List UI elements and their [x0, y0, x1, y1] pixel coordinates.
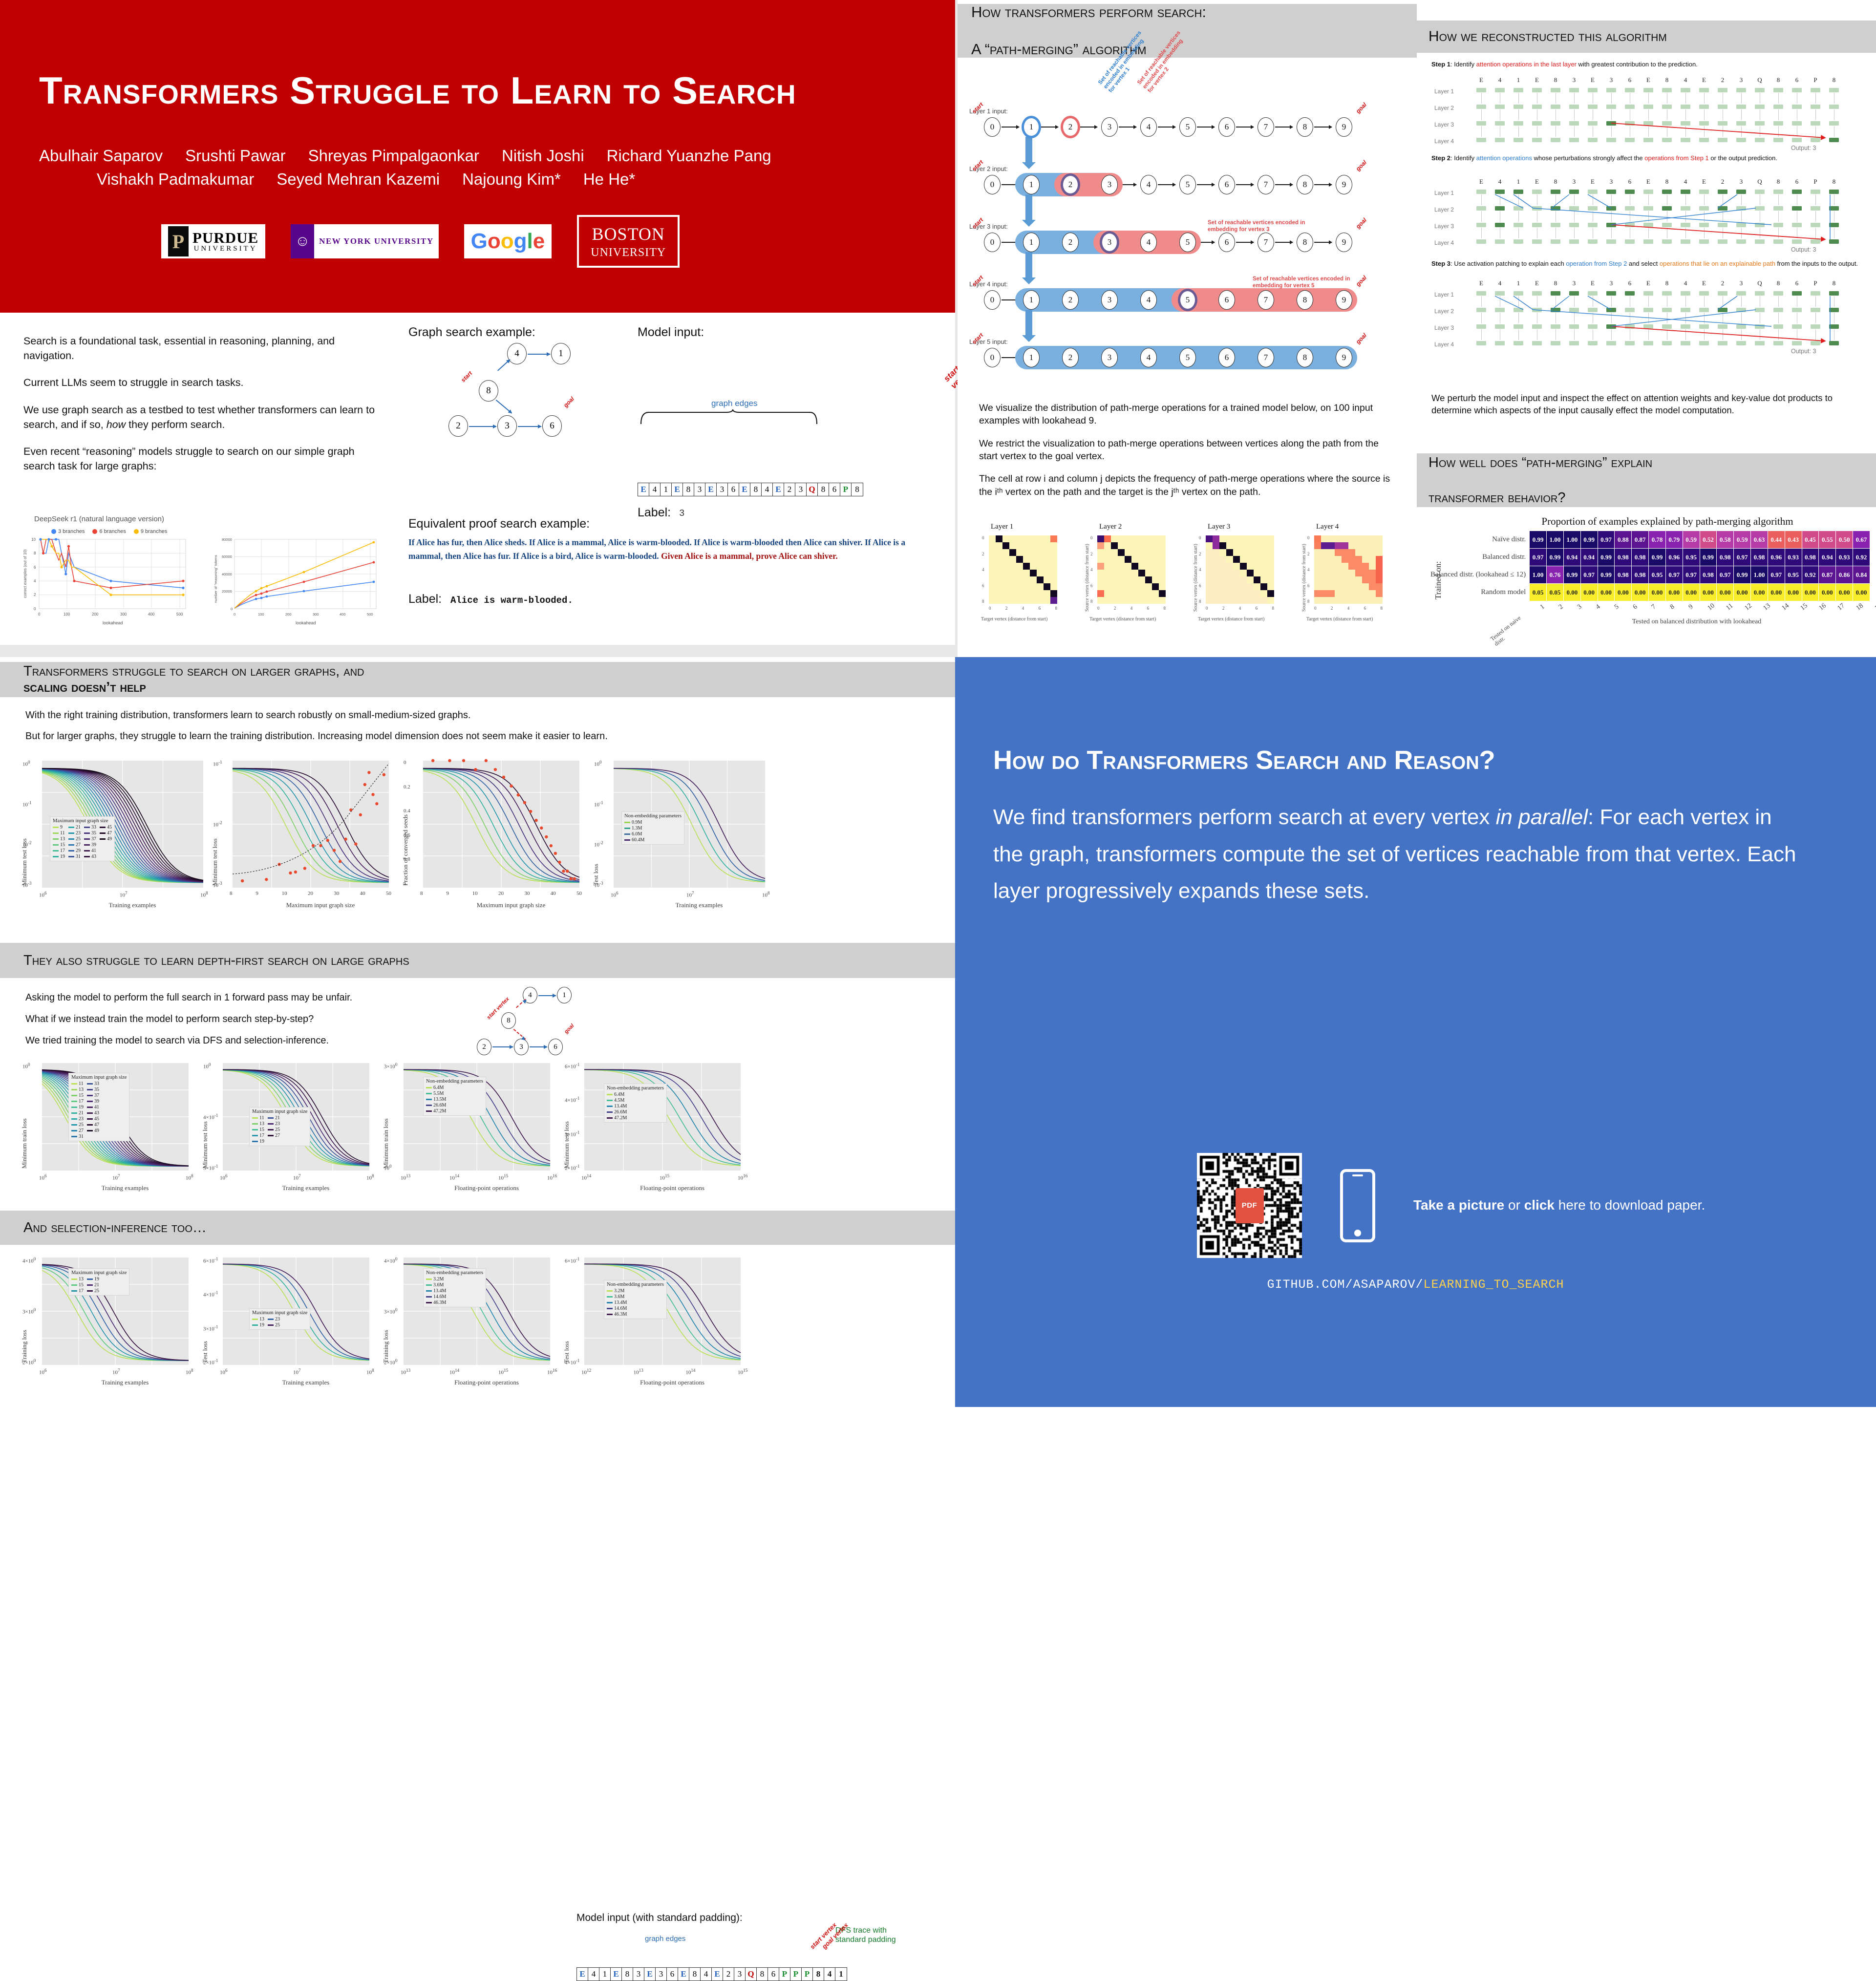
heatmap-cell: 0.00 [1768, 584, 1785, 601]
heatmap-cell [1152, 563, 1159, 570]
reconstruction-connector [1611, 194, 1612, 205]
pm-vertex-6: 6 [1218, 233, 1235, 252]
legend-item: 3.6M [426, 1282, 446, 1288]
plot-dfs-flops-train: Minimum train lossFloating-point operati… [376, 1060, 557, 1198]
heatmap-cell [996, 549, 1002, 556]
legend-swatch [53, 856, 59, 857]
legend-swatch [84, 856, 90, 857]
heatmap-cell: 0.00 [1836, 584, 1853, 601]
reconstruction-connector [1667, 109, 1667, 120]
svg-text:10: 10 [31, 537, 36, 542]
reconstruction-token-header: Q [1755, 279, 1765, 287]
deepseek-left-xlabel: lookahead [103, 620, 123, 625]
reconstruction-activation-cell [1643, 324, 1653, 329]
heatmap-cell [1219, 576, 1226, 583]
heatmap-cell [1131, 549, 1138, 556]
reconstruction-activation-cell [1662, 190, 1672, 194]
reconstruction-activation-cell [1532, 308, 1542, 312]
heatmap-cell: 0.00 [1785, 584, 1802, 601]
reconstruction-connector [1760, 296, 1760, 307]
heatmap-cell: 0.99 [1649, 549, 1666, 566]
boston-university-logo: BOSTON UNIVERSITY [577, 215, 680, 268]
heatmap-cell: 0.98 [1751, 549, 1768, 566]
legend-swatch [53, 844, 59, 846]
plot-scale-minloss-vs-graphsize: Minimum test lossMaximum input graph siz… [205, 758, 396, 915]
heatmap-cell [1131, 535, 1138, 542]
dfs-goal-label: goal [563, 1023, 575, 1035]
reconstruction-token-header: 1 [1514, 279, 1523, 287]
legend-swatch [87, 1278, 93, 1280]
heatmap-cell [996, 570, 1002, 576]
axis-tick-y: 10-2 [594, 840, 603, 848]
reconstruction-layer-grid: E41E83E36E84E23Q86P8Layer 1Layer 2Layer … [1429, 76, 1859, 154]
legend-item: 1.3M [624, 826, 644, 831]
legend-item: 6.4M [607, 1092, 627, 1097]
reconstruction-activation-cell [1495, 105, 1505, 109]
reconstruction-connector [1500, 329, 1500, 340]
legend-swatch [87, 1290, 93, 1292]
reconstruction-activation-cell [1699, 88, 1709, 92]
legend-swatch [87, 1101, 93, 1102]
axis-tick-x: 1014 [449, 1173, 459, 1181]
page-title: Transformers Struggle to Learn to Search [39, 68, 918, 113]
reconstruction-activation-cell [1532, 223, 1542, 227]
reconstruction-output-label: Output: 3 [1791, 348, 1816, 355]
heatmap-cell: 0.00 [1700, 584, 1717, 601]
legend-swatch [68, 844, 74, 846]
heatmap-cell [1138, 576, 1145, 583]
author-name: Shreyas Pimpalgaonkar [308, 147, 479, 165]
reconstruction-activation-cell [1625, 88, 1635, 92]
heatmap-cell [1206, 597, 1213, 604]
heatmap-cell [1152, 542, 1159, 549]
heatmap-cell [1016, 590, 1023, 597]
legend-label: 47.2M [433, 1108, 446, 1114]
reconstruction-connector [1518, 228, 1519, 238]
purdue-logo-line1: PURDUE [192, 230, 258, 245]
reconstruction-token-header: E [1588, 76, 1598, 84]
reconstruction-connector [1834, 211, 1834, 222]
purdue-logo-line2: UNIVERSITY [192, 245, 258, 253]
qr-code[interactable]: PDF [1197, 1153, 1302, 1258]
pm-vertex-2: 2 [1062, 233, 1079, 252]
heatmap-cell: 0.00 [1615, 584, 1632, 601]
heatmap-cell [1104, 597, 1111, 604]
heatmap-cell [1002, 583, 1009, 590]
layer-heatmap-ylabel: Source vertex (distance from start) [1085, 544, 1090, 612]
heatmap-cell [1314, 570, 1321, 576]
legend-swatch [87, 1083, 93, 1085]
heatmap-cell: 0.78 [1649, 531, 1666, 549]
proof-example-title: Equivalent proof search example: [408, 517, 590, 531]
legend-swatch [268, 1123, 274, 1125]
heatmap-cell [1226, 549, 1233, 556]
heatmap-cell [1321, 570, 1328, 576]
axis-tick-y: 6×10-1 [565, 1257, 579, 1264]
heatmap-cell [1131, 576, 1138, 583]
reconstruction-connector [1834, 329, 1834, 340]
heatmap-cell: 0.94 [1819, 549, 1836, 566]
input-token: P [790, 1968, 802, 1981]
reconstruction-connector [1760, 228, 1760, 238]
heatmap-cell [1159, 570, 1166, 576]
heatmap-cell: 0.43 [1785, 531, 1802, 549]
reconstruction-activation-cell [1625, 324, 1635, 329]
legend-swatch [68, 827, 74, 828]
legend-item: 23 [68, 831, 81, 836]
pm-edge [1236, 184, 1254, 185]
reconstruction-activation-cell [1606, 291, 1616, 296]
reconstruction-connector [1723, 228, 1723, 238]
purdue-logo: P PURDUE UNIVERSITY [161, 224, 265, 258]
axis-tick: 4 [1090, 567, 1093, 572]
reconstruction-connector [1574, 211, 1575, 222]
heatmap-cell [1159, 583, 1166, 590]
reconstruction-connector [1704, 109, 1705, 120]
reconstruction-connector [1685, 93, 1686, 104]
heatmap-cell [1328, 535, 1335, 542]
layer-heatmap-ylabel: Source vertex (distance from start) [1193, 544, 1198, 612]
reconstruction-activation-cell [1811, 88, 1820, 92]
axis-tick: 4 [1347, 606, 1350, 611]
legend-swatch [607, 1111, 613, 1113]
axis-tick-x: 1013 [401, 1368, 410, 1376]
heatmap-cell [1097, 583, 1104, 590]
axis-tick-x: 1016 [547, 1173, 557, 1181]
reconstruction-layer-label: Layer 1 [1434, 190, 1454, 196]
axis-tick-x: 40 [360, 891, 365, 896]
heatmap-cell [1131, 542, 1138, 549]
reconstruction-connector [1704, 211, 1705, 222]
heatmap-cell [1247, 576, 1254, 583]
legend-label: 17 [79, 1288, 84, 1294]
pm-edge [1236, 127, 1254, 128]
reconstruction-activation-cell [1718, 138, 1727, 142]
reconstruction-connector [1834, 296, 1834, 307]
reconstruction-connector [1593, 211, 1593, 222]
heatmap-cell [1016, 583, 1023, 590]
heatmap-cell [1321, 549, 1328, 556]
heatmap-cell [1030, 583, 1037, 590]
author-name: Nitish Joshi [502, 147, 584, 165]
heatmap-cell [1044, 576, 1050, 583]
heatmap-cell [1206, 570, 1213, 576]
legend-label: 14.6M [614, 1306, 627, 1311]
reconstruction-connector [1667, 329, 1667, 340]
pm-edge [1275, 242, 1293, 243]
reconstruction-activation-cell [1625, 138, 1635, 142]
input-token: 8 [818, 483, 829, 496]
heatmap-cell [1206, 590, 1213, 597]
axis-tick-x: 1016 [738, 1173, 747, 1181]
reconstruction-connector [1611, 126, 1612, 137]
input-token: 6 [667, 1968, 678, 1981]
heatmap-cell [1213, 590, 1219, 597]
legend-label: 60.4M [632, 837, 644, 843]
legend-label: 13 [79, 1087, 84, 1092]
reconstruction-connector [1815, 329, 1816, 340]
legend-label: 25 [275, 1127, 280, 1132]
heatmap-cell [1104, 549, 1111, 556]
axis-tick: 0 [1314, 606, 1317, 611]
deepseek-left-ylabel: correct examples (out of 10) [23, 549, 27, 598]
heatmap-cell [1002, 590, 1009, 597]
input-token: 4 [588, 1968, 599, 1981]
plot-legend: Maximum input graph size131517192125 [68, 1268, 129, 1296]
heatmap-naive-col-label: Tested on naive distr. [1489, 613, 1528, 647]
pm-vertex-7: 7 [1258, 290, 1274, 310]
legend-swatch [426, 1105, 432, 1106]
heatmap-cell [1023, 570, 1030, 576]
heatmap-cell: 0.00 [1802, 584, 1819, 601]
qr-row: PDF Take a picture or click here to down… [1197, 1153, 1705, 1258]
heatmap-cell [1226, 576, 1233, 583]
reconstruction-activation-cell [1811, 206, 1820, 211]
legend-item: 25 [68, 836, 81, 842]
heatmap-cell [1376, 597, 1383, 604]
reconstruction-connector [1630, 126, 1630, 137]
reconstruction-activation-cell [1643, 239, 1653, 244]
pm-layer-row: Layer 4 input:0123456789startgoal [969, 290, 1409, 318]
legend-swatch [100, 832, 106, 834]
reconstruction-connector [1500, 109, 1500, 120]
axis-tick: 0 [1090, 535, 1093, 540]
heatmap-cell [1247, 563, 1254, 570]
reconstruction-token-header: P [1811, 76, 1820, 84]
legend-label: 0.9M [632, 820, 642, 825]
plot-ylabel: Minimum test loss [211, 838, 219, 886]
reconstruction-token-header: E [1643, 76, 1653, 84]
heatmap-column-label: 5 [1613, 603, 1620, 612]
pm-goal-label: goal [1355, 159, 1368, 172]
heatmap-cell [1376, 590, 1383, 597]
heatmap-cell [1037, 583, 1044, 590]
reconstruction-activation-cell [1588, 190, 1598, 194]
pm-edge [1275, 184, 1293, 185]
heatmap-cell [1044, 590, 1050, 597]
heatmap-cell [1342, 576, 1348, 583]
pm-edge [1197, 184, 1215, 185]
heatmap-cell [1030, 556, 1037, 563]
legend-item: 5.5M [426, 1091, 446, 1096]
reconstruction-connector [1685, 329, 1686, 340]
heatmap-cell [1376, 556, 1383, 563]
proof-label-title: Label: [408, 592, 442, 606]
heatmap-cell [996, 535, 1002, 542]
section-dfs: They also struggle to learn depth-first … [0, 938, 955, 1206]
heatmap-cell [1118, 549, 1125, 556]
author-name: Abulhair Saparov [39, 147, 163, 165]
model-input-title: Model input: [638, 325, 704, 340]
axis-tick: 4 [982, 567, 984, 572]
reconstruction-activation-cell [1532, 105, 1542, 109]
reconstruction-activation-cell [1532, 291, 1542, 296]
heatmap-cell: 0.00 [1717, 584, 1734, 601]
pm-edge [1041, 127, 1058, 128]
legend-item: 35 [84, 831, 96, 836]
plot-dfs-testloss: Minimum test lossTraining examples106107… [195, 1060, 376, 1198]
reconstruction-connector [1778, 228, 1779, 238]
pm-highlight-ring [1061, 173, 1080, 196]
reconstruction-connector [1667, 211, 1667, 222]
heatmap-cell [1226, 570, 1233, 576]
reconstruction-activation-cell [1551, 121, 1560, 126]
heatmap-cell [1321, 583, 1328, 590]
reconstruction-token-header: E [1643, 178, 1653, 186]
axis-tick-y: 10-2 [22, 840, 32, 848]
reconstruction-activation-cell [1792, 121, 1802, 126]
axis-tick: 2 [1114, 606, 1116, 611]
reconstruction-activation-cell [1773, 308, 1783, 312]
legend-swatch [87, 1130, 93, 1131]
reconstruction-connector [1704, 313, 1705, 323]
axis-tick-x: 107 [686, 891, 694, 898]
heatmap-cell [1335, 542, 1342, 549]
reconstruction-activation-cell [1495, 341, 1505, 345]
heatmap-cell [1240, 556, 1247, 563]
heatmap-cell [1376, 570, 1383, 576]
legend-swatch [624, 839, 630, 841]
author-name: Vishakh Padmakumar [97, 170, 254, 189]
axis-tick: 4 [1239, 606, 1241, 611]
heatmap-cell: 0.00 [1683, 584, 1700, 601]
svg-text:300: 300 [120, 612, 127, 617]
input-token: E [678, 1968, 689, 1981]
input-token: 2 [784, 483, 795, 496]
reconstruction-activation-cell [1736, 308, 1746, 312]
reconstruction-activation-cell [1792, 206, 1802, 211]
pm-vertex-4: 4 [1140, 175, 1157, 194]
proof-text: If Alice has fur, then Alice sheds. If A… [408, 535, 917, 563]
reconstruction-token-header: 3 [1569, 178, 1579, 186]
input-token: 3 [717, 483, 728, 496]
legend-label: 6.4M [433, 1085, 444, 1090]
heatmap-cell [1314, 542, 1321, 549]
reconstruction-activation-cell [1625, 239, 1635, 244]
heatmap-cell: 0.00 [1632, 584, 1649, 601]
github-link[interactable]: GITHUB.COM/ASAPAROV/LEARNING_TO_SEARCH [955, 1278, 1876, 1292]
heatmap-cell [1335, 563, 1342, 570]
heatmap-cell [1125, 583, 1131, 590]
heatmap-cell [1030, 576, 1037, 583]
plot-xlabel: Training examples [86, 1379, 164, 1386]
axis-tick-x: 107 [112, 1368, 120, 1376]
heatmap-cell [1050, 590, 1057, 597]
heatmap-cell [1104, 576, 1111, 583]
heatmap-cell [1009, 549, 1016, 556]
reconstruction-activation-cell [1588, 88, 1598, 92]
heatmap-cell [1376, 535, 1383, 542]
reconstruction-activation-cell [1662, 105, 1672, 109]
reconstruction-connector [1815, 228, 1816, 238]
reconstruction-token-header: 2 [1718, 76, 1727, 84]
plot-legend: Non-embedding parameters3.2M3.6M13.4M14.… [423, 1268, 486, 1307]
reconstruction-layer-label: Layer 4 [1434, 138, 1454, 145]
heatmap-cell: 0.87 [1632, 531, 1649, 549]
heatmap-cell [1328, 583, 1335, 590]
heatmap-cell [1145, 570, 1152, 576]
reconstruction-activation-cell [1811, 291, 1820, 296]
reconstruction-activation-cell [1662, 291, 1672, 296]
heatmap-cell [1097, 535, 1104, 542]
reconstruction-connector [1537, 313, 1537, 323]
reconstruction-activation-cell [1495, 138, 1505, 142]
legend-label: 13.4M [433, 1288, 446, 1294]
axis-tick-y: 4×10-1 [565, 1096, 579, 1104]
reconstruction-activation-cell [1699, 291, 1709, 296]
heatmap-cell [1050, 556, 1057, 563]
pm-layer-row: Layer 3 input:0123456789startgoal [969, 233, 1409, 260]
layer-heatmap: Layer 1Target vertex (distance from star… [972, 523, 1077, 645]
reconstruction-token-header: E [1699, 279, 1709, 287]
legend-label: 47 [107, 831, 112, 836]
heatmap-cell [1247, 556, 1254, 563]
plot-xlabel: Floating-point operations [448, 1379, 526, 1386]
pm-vertex-9: 9 [1336, 348, 1352, 367]
heatmap-cell [1002, 597, 1009, 604]
reconstruction-activation-cell [1681, 223, 1690, 227]
heatmap-cell [1314, 576, 1321, 583]
heatmap-cell [1314, 535, 1321, 542]
heatmap-cell [1267, 570, 1274, 576]
heatmap-cell [1267, 583, 1274, 590]
reconstruction-activation-cell [1514, 138, 1523, 142]
heatmap-cell [1240, 597, 1247, 604]
reconstruction-connector [1723, 109, 1723, 120]
reconstruction-activation-cell [1495, 88, 1505, 92]
heatmap-cell [1159, 556, 1166, 563]
reconstruction-activation-cell [1606, 206, 1616, 211]
legend-label: 3.2M [433, 1277, 444, 1282]
heatmap-cell [1369, 576, 1376, 583]
heatmap-cell [1362, 549, 1369, 556]
heatmap-cell [1118, 542, 1125, 549]
graph-node-1: 1 [551, 343, 571, 364]
heatmap-cell [1097, 570, 1104, 576]
reconstruction-activation-cell [1625, 223, 1635, 227]
heatmap-cell [1016, 570, 1023, 576]
reconstruction-layer-grid: E41E83E36E84E23Q86P8Layer 1Layer 2Layer … [1429, 178, 1859, 256]
legend-item: 0.9M [624, 820, 644, 825]
reconstruction-activation-cell [1829, 190, 1839, 194]
reconstruction-connector [1481, 211, 1482, 222]
heatmap-cell [1131, 597, 1138, 604]
reconstruction-connector [1834, 109, 1834, 120]
heatmap-cell [1097, 549, 1104, 556]
heatmap-cell [1002, 556, 1009, 563]
label-value: 3 [679, 508, 684, 519]
heatmap-column-label: 11 [1725, 602, 1735, 613]
legend-item: 13.4M [426, 1288, 446, 1294]
reconstruction-connector [1630, 109, 1630, 120]
reconstruction-activation-cell [1792, 105, 1802, 109]
pm-vertex-2: 2 [1062, 348, 1079, 367]
pm-edge [1314, 127, 1332, 128]
reconstruction-activation-cell [1569, 121, 1579, 126]
heatmap-cell [1138, 549, 1145, 556]
heatmap-cell [1037, 563, 1044, 570]
reconstruction-activation-cell [1662, 138, 1672, 142]
dfs-node-3: 3 [514, 1039, 529, 1055]
heatmap-cell: 0.97 [1665, 566, 1683, 584]
reconstruction-connector [1574, 296, 1575, 307]
graph-edges-label: graph edges [711, 399, 758, 408]
heatmap-cell [1037, 556, 1044, 563]
reconstruction-connector [1723, 313, 1723, 323]
input-token: 4 [701, 1968, 712, 1981]
reconstruction-connector [1704, 93, 1705, 104]
legend-swatch [71, 1284, 77, 1286]
